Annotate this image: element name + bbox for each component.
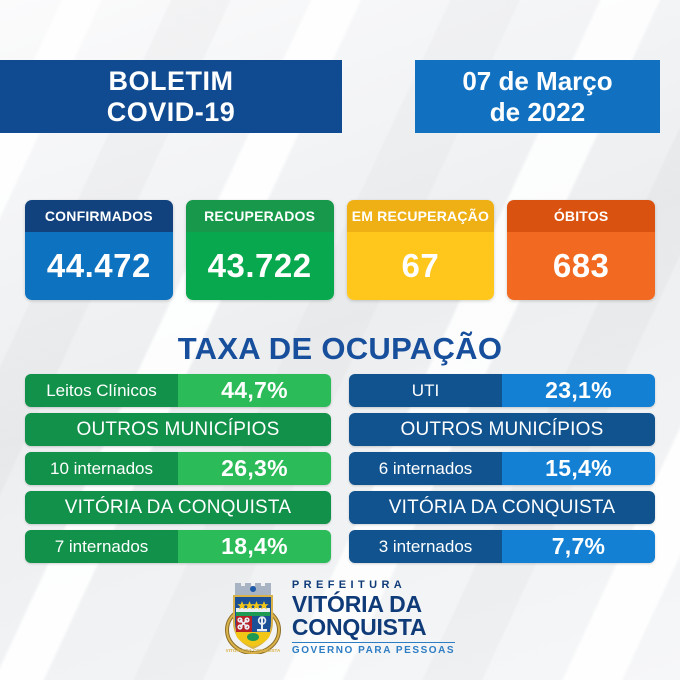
occupancy-column-icu: UTI23,1%OUTROS MUNICÍPIOS6 internados15,… — [349, 374, 655, 563]
occupancy-section-title: TAXA DE OCUPAÇÃO — [0, 331, 680, 367]
bulletin-date-text: 07 de Março de 2022 — [462, 66, 612, 126]
infographic-canvas: BOLETIM COVID-19 07 de Março de 2022 CON… — [0, 0, 680, 680]
occupancy-row: 3 internados7,7% — [349, 530, 655, 563]
bulletin-title-line1: BOLETIM — [107, 66, 236, 97]
occupancy-row-label: UTI — [349, 374, 502, 407]
stat-card: ÓBITOS683 — [507, 200, 655, 300]
logo-tagline: GOVERNO PARA PESSOAS — [292, 642, 455, 657]
logo-city-line2: CONQUISTA — [292, 616, 455, 639]
occupancy-region-header: VITÓRIA DA CONQUISTA — [25, 491, 331, 524]
occupancy-region-header: OUTROS MUNICÍPIOS — [349, 413, 655, 446]
occupancy-row-percentage: 44,7% — [178, 374, 331, 407]
bulletin-date-line1: 07 de Março — [462, 66, 612, 96]
occupancy-row-percentage: 15,4% — [502, 452, 655, 485]
stat-card-value: 44.472 — [25, 232, 173, 300]
stat-card: RECUPERADOS43.722 — [186, 200, 334, 300]
occupancy-region-header: VITÓRIA DA CONQUISTA — [349, 491, 655, 524]
bulletin-date-banner: 07 de Março de 2022 — [415, 60, 660, 133]
stat-card-label: EM RECUPERAÇÃO — [347, 200, 495, 232]
occupancy-column-clinical-beds: Leitos Clínicos44,7%OUTROS MUNICÍPIOS10 … — [25, 374, 331, 563]
statistics-card-row: CONFIRMADOS44.472RECUPERADOS43.722EM REC… — [25, 200, 655, 300]
footer-logo: VITÓRIA DA CONQUISTA PREFEITURA VITÓRIA … — [0, 578, 680, 658]
occupancy-row-percentage: 26,3% — [178, 452, 331, 485]
occupancy-row-label: 10 internados — [25, 452, 178, 485]
occupancy-row: 10 internados26,3% — [25, 452, 331, 485]
coat-of-arms-icon: VITÓRIA DA CONQUISTA — [225, 582, 281, 654]
svg-text:VITÓRIA DA CONQUISTA: VITÓRIA DA CONQUISTA — [226, 646, 281, 653]
stat-card: CONFIRMADOS44.472 — [25, 200, 173, 300]
occupancy-region-header: OUTROS MUNICÍPIOS — [25, 413, 331, 446]
occupancy-row-label: 3 internados — [349, 530, 502, 563]
stat-card-label: RECUPERADOS — [186, 200, 334, 232]
occupancy-row: 6 internados15,4% — [349, 452, 655, 485]
stat-card-label: ÓBITOS — [507, 200, 655, 232]
logo-wordmark: PREFEITURA VITÓRIA DA CONQUISTA GOVERNO … — [292, 579, 455, 656]
occupancy-row-percentage: 18,4% — [178, 530, 331, 563]
occupancy-row: UTI23,1% — [349, 374, 655, 407]
occupancy-row-percentage: 23,1% — [502, 374, 655, 407]
stat-card: EM RECUPERAÇÃO67 — [347, 200, 495, 300]
bulletin-date-line2: de 2022 — [462, 97, 612, 127]
bulletin-title-line2: COVID-19 — [107, 97, 236, 128]
stat-card-value: 43.722 — [186, 232, 334, 300]
logo-city-line1: VITÓRIA DA — [292, 593, 455, 616]
occupancy-row: 7 internados18,4% — [25, 530, 331, 563]
occupancy-row-percentage: 7,7% — [502, 530, 655, 563]
stat-card-value: 67 — [347, 232, 495, 300]
stat-card-label: CONFIRMADOS — [25, 200, 173, 232]
bulletin-title-banner: BOLETIM COVID-19 — [0, 60, 342, 133]
occupancy-row-label: 7 internados — [25, 530, 178, 563]
occupancy-row: Leitos Clínicos44,7% — [25, 374, 331, 407]
bulletin-title-text: BOLETIM COVID-19 — [107, 66, 236, 128]
occupancy-row-label: 6 internados — [349, 452, 502, 485]
stat-card-value: 683 — [507, 232, 655, 300]
occupancy-row-label: Leitos Clínicos — [25, 374, 178, 407]
